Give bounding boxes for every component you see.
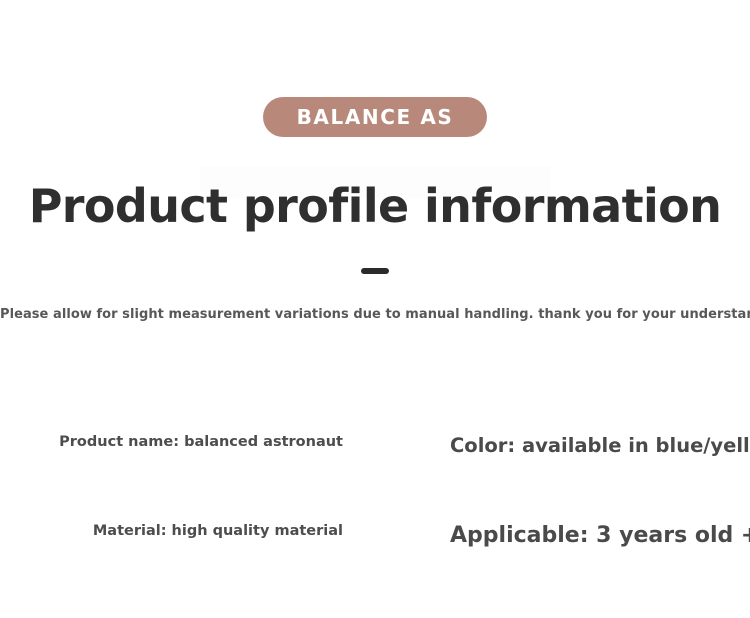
measurement-disclaimer: Please allow for slight measurement vari… — [0, 307, 750, 324]
badge-container: BALANCE AS — [0, 97, 750, 137]
spec-material: Material: high quality material — [0, 521, 450, 541]
product-info-page: BALANCE AS Product profile information P… — [0, 0, 750, 618]
spec-product-name: Product name: balanced astronaut — [0, 432, 450, 452]
divider-container — [0, 268, 750, 274]
balance-as-badge: BALANCE AS — [263, 97, 488, 137]
page-title: Product profile information — [0, 180, 750, 233]
section-divider — [361, 268, 389, 274]
spec-color: Color: available in blue/yellow — [450, 432, 750, 459]
product-spec-grid: Product name: balanced astronaut Color: … — [0, 432, 750, 552]
spec-applicable-age: Applicable: 3 years old + — [450, 521, 750, 552]
